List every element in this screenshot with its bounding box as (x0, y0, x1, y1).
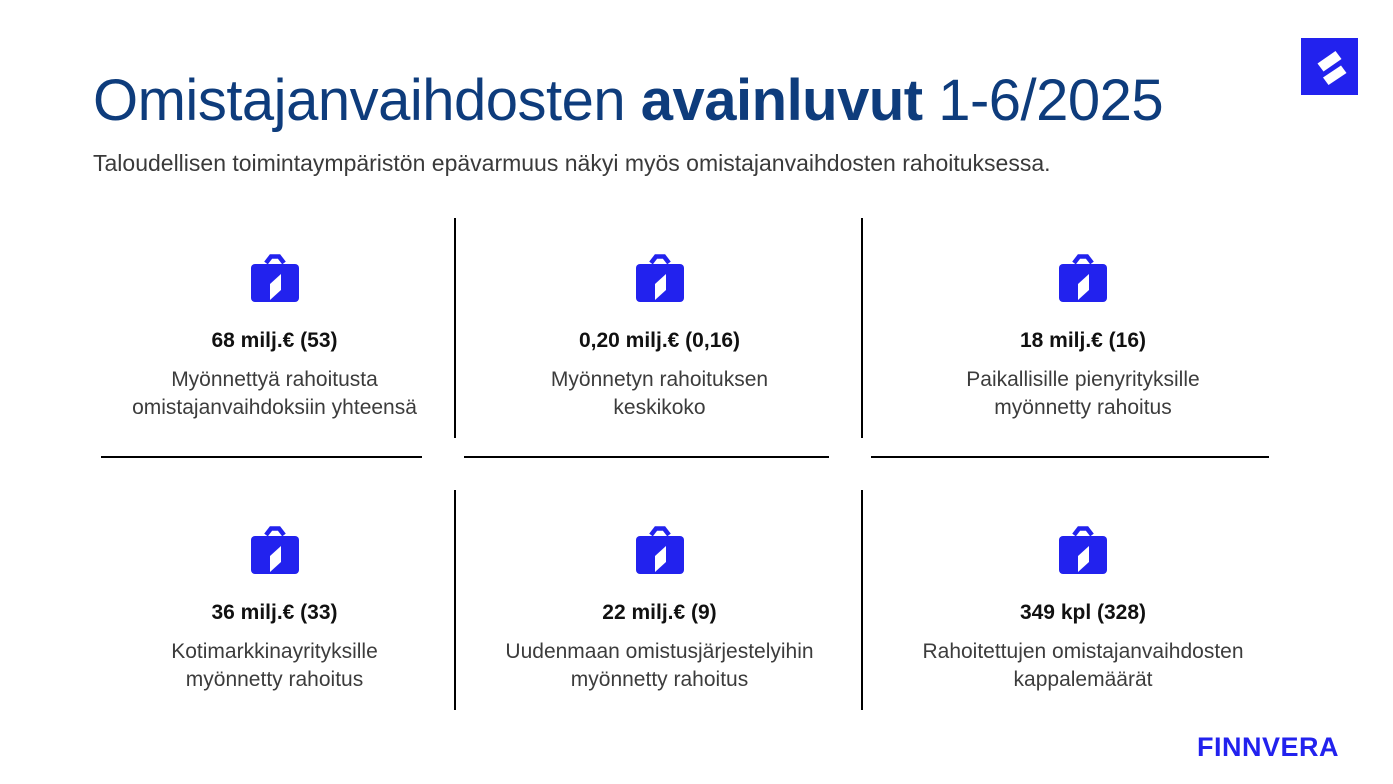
page-title-part2: 1-6/2025 (923, 68, 1164, 133)
stat-card-4: 36 milj.€ (33) Kotimarkkinayrityksille m… (93, 490, 456, 712)
briefcase-icon (93, 520, 456, 582)
stat-divider (464, 456, 829, 458)
stat-value: 349 kpl (328) (863, 600, 1303, 626)
stat-label: Uudenmaan omistusjärjestelyihin myönnett… (456, 638, 863, 694)
finnvera-logo-mark (1301, 38, 1358, 95)
briefcase-icon (456, 248, 863, 310)
stat-divider (101, 456, 422, 458)
stat-divider (871, 456, 1269, 458)
page-title-part1: Omistajanvaihdosten (93, 68, 641, 133)
stat-card-6: 349 kpl (328) Rahoitettujen omistajanvai… (863, 490, 1303, 712)
page-subtitle: Taloudellisen toimintaympäristön epävarm… (93, 148, 1293, 178)
stat-label: Myönnetyn rahoituksen keskikoko (456, 366, 863, 422)
stat-card-3: 18 milj.€ (16) Paikallisille pienyrityks… (863, 218, 1303, 490)
stat-value: 0,20 milj.€ (0,16) (456, 328, 863, 354)
stat-value: 18 milj.€ (16) (863, 328, 1303, 354)
briefcase-icon (456, 520, 863, 582)
stat-value: 68 milj.€ (53) (93, 328, 456, 354)
stat-value: 36 milj.€ (33) (93, 600, 456, 626)
finnvera-wordmark: FINNVERA (1197, 732, 1339, 762)
stats-grid: 68 milj.€ (53) Myönnettyä rahoitusta omi… (93, 218, 1303, 712)
stat-label: Rahoitettujen omistajanvaihdosten kappal… (863, 638, 1303, 694)
stat-card-1: 68 milj.€ (53) Myönnettyä rahoitusta omi… (93, 218, 456, 490)
page-title: Omistajanvaihdosten avainluvut 1-6/2025 (93, 66, 1293, 136)
header: Omistajanvaihdosten avainluvut 1-6/2025 … (93, 66, 1293, 178)
stat-card-2: 0,20 milj.€ (0,16) Myönnetyn rahoituksen… (456, 218, 863, 490)
briefcase-icon (863, 520, 1303, 582)
stat-label: Myönnettyä rahoitusta omistajanvaihdoksi… (93, 366, 456, 422)
stat-card-5: 22 milj.€ (9) Uudenmaan omistusjärjestel… (456, 490, 863, 712)
briefcase-icon (93, 248, 456, 310)
stat-label: Paikallisille pienyrityksille myönnetty … (863, 366, 1303, 422)
page-title-emphasis: avainluvut (641, 68, 923, 133)
stat-value: 22 milj.€ (9) (456, 600, 863, 626)
finnvera-bolt-icon (1301, 38, 1358, 95)
stat-label: Kotimarkkinayrityksille myönnetty rahoit… (93, 638, 456, 694)
briefcase-icon (863, 248, 1303, 310)
